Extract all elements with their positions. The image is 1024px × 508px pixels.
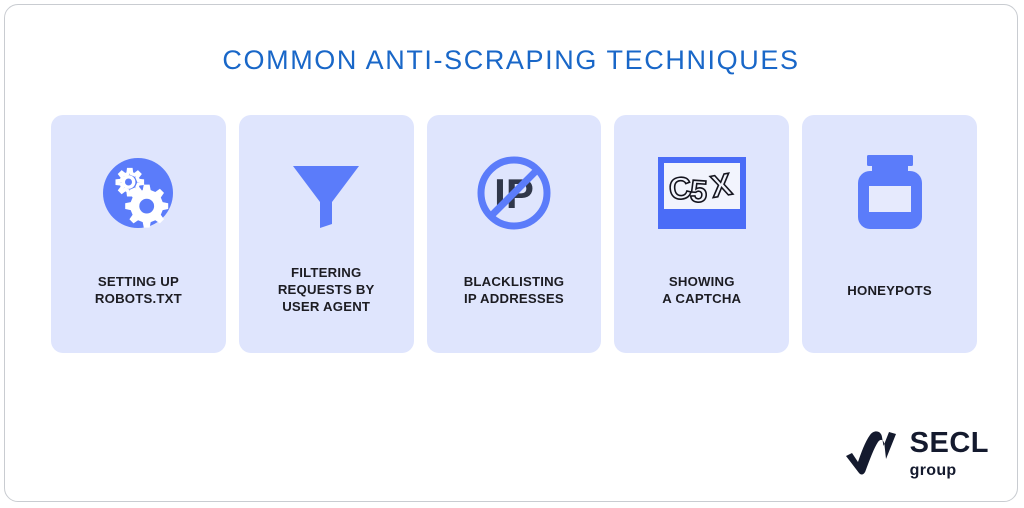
technique-card-label: SETTING UP ROBOTS.TXT xyxy=(57,273,220,307)
secl-group-logo: SECL group xyxy=(843,429,989,479)
label-line-2: A CAPTCHA xyxy=(662,291,741,306)
label-line-2: REQUESTS BY xyxy=(278,282,375,297)
gears-icon xyxy=(51,143,226,243)
infographic-canvas: COMMON ANTI-SCRAPING TECHNIQUES SETTING … xyxy=(4,4,1018,502)
no-ip-icon: IP xyxy=(427,143,602,243)
label-line-2: IP ADDRESSES xyxy=(464,291,564,306)
label-line-2: ROBOTS.TXT xyxy=(95,291,182,306)
captcha-char-2: 5 xyxy=(689,173,709,209)
technique-card-captcha[interactable]: C 5 X SHOWING A CAPTCHA xyxy=(614,115,789,353)
logo-text-block: SECL group xyxy=(910,429,989,479)
label-line-1: HONEYPOTS xyxy=(847,283,932,298)
technique-card-label: BLACKLISTING IP ADDRESSES xyxy=(433,273,596,307)
label-line-1: SETTING UP xyxy=(98,274,179,289)
label-line-1: SHOWING xyxy=(669,274,735,289)
technique-card-user-agent-filtering[interactable]: FILTERING REQUESTS BY USER AGENT xyxy=(239,115,414,353)
technique-card-honeypots[interactable]: HONEYPOTS xyxy=(802,115,977,353)
label-line-1: BLACKLISTING xyxy=(464,274,565,289)
technique-card-label: SHOWING A CAPTCHA xyxy=(620,273,783,307)
technique-card-list: SETTING UP ROBOTS.TXT FILTERING REQUESTS… xyxy=(51,115,977,353)
logo-subtitle: group xyxy=(910,463,989,479)
honeypot-jar-icon xyxy=(802,143,977,243)
technique-card-label: FILTERING REQUESTS BY USER AGENT xyxy=(245,264,408,315)
funnel-filter-icon xyxy=(239,143,414,243)
captcha-box-icon: C 5 X xyxy=(614,143,789,243)
technique-card-robots-txt[interactable]: SETTING UP ROBOTS.TXT xyxy=(51,115,226,353)
logo-name: SECL xyxy=(910,429,989,458)
check-wave-mark-icon xyxy=(843,429,899,479)
label-line-1: FILTERING xyxy=(291,265,361,280)
label-line-3: USER AGENT xyxy=(282,299,370,314)
page-title: COMMON ANTI-SCRAPING TECHNIQUES xyxy=(5,45,1017,76)
technique-card-label: HONEYPOTS xyxy=(808,282,971,299)
technique-card-ip-blacklisting[interactable]: IP BLACKLISTING IP ADDRESSES xyxy=(427,115,602,353)
